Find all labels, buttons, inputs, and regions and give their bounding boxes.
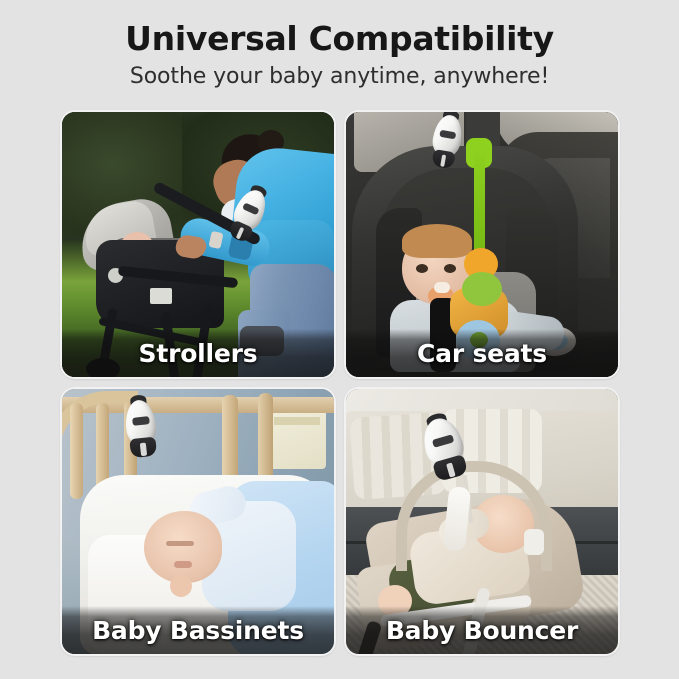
toy-cord [474, 148, 485, 256]
hanging-toy-ball-green [462, 272, 502, 306]
baby-hand [170, 575, 192, 597]
wall-poster-line [274, 417, 320, 425]
baby-hair [402, 224, 472, 258]
card-baby-bouncer[interactable]: Baby Bouncer [346, 389, 618, 654]
pacifier-ring [434, 282, 450, 293]
caption-band-baby-bassinets: Baby Bassinets [62, 606, 334, 654]
baby-mouth [174, 561, 192, 568]
seat-label [150, 288, 172, 304]
page-title: Universal Compatibility [0, 20, 679, 59]
baby-closed-eye [166, 541, 194, 546]
card-label-car-seats: Car seats [417, 339, 547, 368]
card-car-seats[interactable]: Car seats [346, 112, 618, 377]
baby-eye-left [416, 264, 428, 273]
caption-band-baby-bouncer: Baby Bouncer [346, 606, 618, 654]
header: Universal Compatibility Soothe your baby… [0, 0, 679, 89]
caption-band-car-seats: Car seats [346, 329, 618, 377]
card-strollers[interactable]: Strollers [62, 112, 334, 377]
card-label-strollers: Strollers [139, 339, 258, 368]
crib-slat-5 [258, 393, 273, 485]
card-label-baby-bassinets: Baby Bassinets [92, 616, 304, 645]
card-baby-bassinets[interactable]: Baby Bassinets [62, 389, 334, 654]
crib-slat-1 [70, 403, 83, 499]
baby-head [144, 511, 222, 583]
caption-band-strollers: Strollers [62, 329, 334, 377]
baby-eye-right [444, 264, 456, 273]
compatibility-grid: Strollers [62, 112, 618, 656]
page-subtitle: Soothe your baby anytime, anywhere! [0, 64, 679, 89]
infographic-page: Universal Compatibility Soothe your baby… [0, 0, 679, 679]
card-label-baby-bouncer: Baby Bouncer [386, 616, 578, 645]
toy-bar-clip [524, 529, 544, 555]
sound-machine-device [117, 393, 165, 459]
